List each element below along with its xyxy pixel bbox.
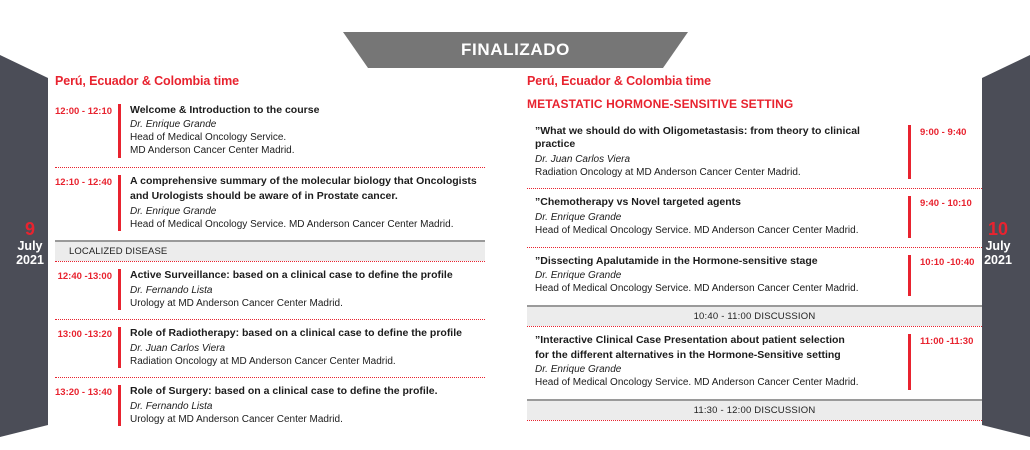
session-speaker: Dr. Enrique Grande xyxy=(535,270,900,283)
session-time: 12:40 -13:00 xyxy=(55,269,118,282)
session-body: ”What we should do with Oligometastasis:… xyxy=(527,125,908,179)
discussion-band-1: 10:40 - 11:00 DISCUSSION xyxy=(527,305,982,326)
session-body: Active Surveillance: based on a clinical… xyxy=(130,269,485,310)
session-time: 9:40 - 10:10 xyxy=(920,196,982,209)
status-badge: FINALIZADO xyxy=(343,32,688,68)
table-row[interactable]: 12:10 - 12:40 A comprehensive summary of… xyxy=(55,167,485,240)
session-speaker: Dr. Enrique Grande xyxy=(535,212,900,225)
row-accent-bar xyxy=(908,196,911,237)
session-affiliation: Radiation Oncology at MD Anderson Cancer… xyxy=(535,167,900,180)
session-speaker: Dr. Fernando Lista xyxy=(130,401,485,414)
session-time: 12:00 - 12:10 xyxy=(55,104,118,117)
table-row[interactable]: ”Chemotherapy vs Novel targeted agents D… xyxy=(527,188,982,246)
session-title: ”Interactive Clinical Case Presentation … xyxy=(535,334,900,347)
row-accent-bar xyxy=(908,334,911,390)
day2-section-title: METASTATIC HORMONE-SENSITIVE SETTING xyxy=(527,97,982,111)
session-affiliation: Head of Medical Oncology Service. MD And… xyxy=(535,283,900,296)
session-body: ”Dissecting Apalutamide in the Hormone-s… xyxy=(527,255,908,296)
row-accent-bar xyxy=(118,327,121,368)
session-body: A comprehensive summary of the molecular… xyxy=(130,175,485,231)
session-body: Role of Surgery: based on a clinical cas… xyxy=(130,385,485,426)
day1-timezone-title: Perú, Ecuador & Colombia time xyxy=(55,74,485,88)
day1-rows-group-2: 12:40 -13:00 Active Surveillance: based … xyxy=(55,262,485,435)
table-row[interactable]: ”What we should do with Oligometastasis:… xyxy=(527,118,982,188)
session-time: 13:20 - 13:40 xyxy=(55,385,118,398)
session-speaker: Dr. Juan Carlos Viera xyxy=(130,343,485,356)
session-title: A comprehensive summary of the molecular… xyxy=(130,175,485,188)
session-title: ”Dissecting Apalutamide in the Hormone-s… xyxy=(535,255,900,268)
row-accent-bar xyxy=(118,269,121,310)
session-body: Role of Radiotherapy: based on a clinica… xyxy=(130,327,485,368)
day1-day: 9 xyxy=(0,219,60,239)
day2-schedule-column: Perú, Ecuador & Colombia time METASTATIC… xyxy=(527,74,982,421)
session-affiliation: Radiation Oncology at MD Anderson Cancer… xyxy=(130,356,485,369)
session-title-line2: and Urologists should be aware of in Pro… xyxy=(130,190,485,203)
session-time: 9:00 - 9:40 xyxy=(920,125,982,138)
session-speaker: Dr. Enrique Grande xyxy=(130,119,485,132)
row-accent-bar xyxy=(908,255,911,296)
table-row[interactable]: 13:20 - 13:40 Role of Surgery: based on … xyxy=(55,377,485,435)
session-title: ”Chemotherapy vs Novel targeted agents xyxy=(535,196,900,209)
session-affiliation-2: MD Anderson Cancer Center Madrid. xyxy=(130,145,485,158)
session-speaker: Dr. Fernando Lista xyxy=(130,285,485,298)
session-body: ”Chemotherapy vs Novel targeted agents D… xyxy=(527,196,908,237)
session-time: 13:00 -13:20 xyxy=(55,327,118,340)
session-body: Welcome & Introduction to the course Dr.… xyxy=(130,104,485,158)
session-affiliation: Head of Medical Oncology Service. xyxy=(130,132,485,145)
session-affiliation: Head of Medical Oncology Service. MD And… xyxy=(535,377,900,390)
session-affiliation: Urology at MD Anderson Cancer Center Mad… xyxy=(130,298,485,311)
table-row[interactable]: 12:40 -13:00 Active Surveillance: based … xyxy=(55,262,485,319)
session-title: Role of Radiotherapy: based on a clinica… xyxy=(130,327,485,340)
session-body: ”Interactive Clinical Case Presentation … xyxy=(527,334,908,390)
session-title: Active Surveillance: based on a clinical… xyxy=(130,269,485,282)
table-row[interactable]: 13:00 -13:20 Role of Radiotherapy: based… xyxy=(55,319,485,377)
row-accent-bar xyxy=(118,175,121,231)
session-speaker: Dr. Enrique Grande xyxy=(130,206,485,219)
session-affiliation: Head of Medical Oncology Service. MD And… xyxy=(130,219,485,232)
session-affiliation: Urology at MD Anderson Cancer Center Mad… xyxy=(130,414,485,427)
day1-date-label: 9 July 2021 xyxy=(0,219,60,267)
section-band-localized-disease: LOCALIZED DISEASE xyxy=(55,240,485,261)
session-title: Welcome & Introduction to the course xyxy=(130,104,485,117)
session-title: ”What we should do with Oligometastasis:… xyxy=(535,125,900,152)
row-accent-bar xyxy=(118,104,121,158)
session-title: Role of Surgery: based on a clinical cas… xyxy=(130,385,485,398)
session-time: 10:10 -10:40 xyxy=(920,255,982,268)
session-speaker: Dr. Juan Carlos Viera xyxy=(535,154,900,167)
status-banner: FINALIZADO xyxy=(343,32,688,68)
row-accent-bar xyxy=(908,125,911,179)
row-accent-bar xyxy=(118,385,121,426)
agenda-poster: 9 July 2021 10 July 2021 FINALIZADO Perú… xyxy=(0,0,1030,450)
session-speaker: Dr. Enrique Grande xyxy=(535,364,900,377)
session-time: 12:10 - 12:40 xyxy=(55,175,118,188)
day2-rows-group-1: ”What we should do with Oligometastasis:… xyxy=(527,118,982,305)
day2-timezone-title: Perú, Ecuador & Colombia time xyxy=(527,74,982,88)
session-time: 11:00 -11:30 xyxy=(920,334,982,347)
day1-month: July xyxy=(0,239,60,253)
day2-rows-group-2: ”Interactive Clinical Case Presentation … xyxy=(527,327,982,399)
day1-year: 2021 xyxy=(0,253,60,267)
table-row[interactable]: ”Interactive Clinical Case Presentation … xyxy=(527,327,982,399)
day1-schedule-column: Perú, Ecuador & Colombia time 12:00 - 12… xyxy=(55,74,485,435)
session-title-line2: for the different alternatives in the Ho… xyxy=(535,349,900,362)
day1-rows-group-1: 12:00 - 12:10 Welcome & Introduction to … xyxy=(55,97,485,240)
table-row[interactable]: 12:00 - 12:10 Welcome & Introduction to … xyxy=(55,97,485,167)
discussion-band-2: 11:30 - 12:00 DISCUSSION xyxy=(527,399,982,420)
band-separator xyxy=(527,420,982,421)
session-affiliation: Head of Medical Oncology Service. MD And… xyxy=(535,225,900,238)
table-row[interactable]: ”Dissecting Apalutamide in the Hormone-s… xyxy=(527,247,982,305)
